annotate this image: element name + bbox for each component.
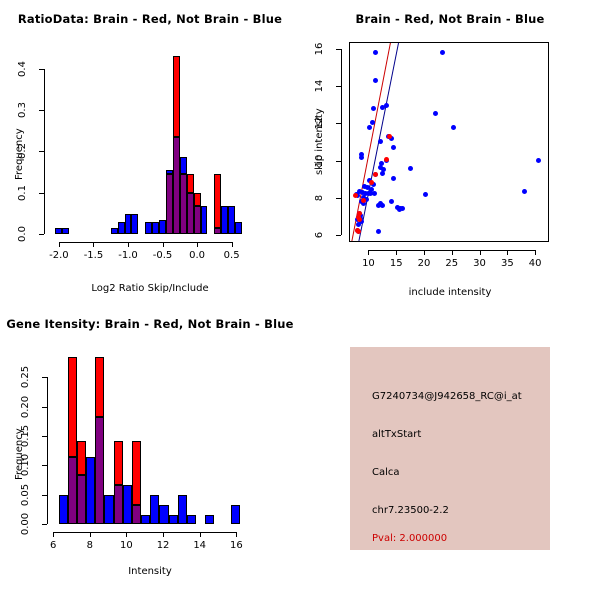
info-event-type: altTxStart (372, 429, 421, 440)
scatter-point (433, 111, 438, 116)
y-tick (336, 161, 341, 162)
x-tick (396, 250, 397, 255)
scatter-point (391, 145, 396, 150)
y-tick-label: 0.2 (16, 138, 30, 164)
scatter-point (423, 192, 428, 197)
histogram-bar (180, 174, 187, 234)
histogram-bar (228, 206, 235, 234)
scatter-point (397, 207, 402, 212)
histogram-bar (231, 505, 240, 524)
y-axis-line (341, 49, 342, 234)
scatter-point (384, 103, 389, 108)
scatter-point (376, 229, 381, 234)
y-tick-label: 0.20 (19, 394, 33, 420)
info-pval: Pval: 2.000000 (372, 533, 447, 544)
scatter-point (387, 134, 392, 139)
y-tick (336, 86, 341, 87)
histogram-bar (214, 174, 221, 228)
histogram-bar (169, 515, 178, 524)
histogram-bar (95, 357, 104, 417)
scatter-point (380, 171, 385, 176)
y-tick (42, 436, 47, 437)
y-tick (42, 465, 47, 466)
panel-scatter: Brain - Red, Not Brain - Blue skip inten… (300, 0, 600, 300)
histogram-bar (68, 457, 77, 524)
scatter-point (380, 203, 385, 208)
histogram-bar (180, 157, 187, 174)
x-tick (535, 250, 536, 255)
scatter-point (536, 158, 541, 163)
histogram-bar (145, 222, 152, 234)
histogram-bar (104, 495, 113, 524)
histogram-bar (55, 228, 62, 234)
histogram-bar (131, 214, 138, 234)
info-probe-id: G7240734@J942658_RC@i_at (372, 391, 522, 402)
x-tick (126, 532, 127, 537)
histogram-bar (123, 485, 132, 524)
histogram-bar (68, 357, 77, 457)
histogram-bar (235, 222, 242, 234)
x-tick (90, 532, 91, 537)
y-tick-label: 0.15 (19, 423, 33, 449)
histogram-bar (152, 222, 159, 234)
histogram-bar (141, 515, 150, 524)
histogram-bar (132, 441, 141, 505)
histogram-bar (194, 193, 201, 206)
histogram-bar (86, 457, 95, 524)
x-tick (128, 242, 129, 247)
histogram-bar (201, 206, 208, 234)
scatter-point (367, 125, 372, 130)
y-tick (42, 524, 47, 525)
y-tick (39, 69, 44, 70)
x-tick (236, 532, 237, 537)
histogram-bar (173, 56, 180, 137)
y-tick-label: 16 (313, 36, 327, 62)
histogram-bar (166, 174, 173, 234)
y-tick (336, 49, 341, 50)
x-axis-line (59, 242, 232, 243)
y-tick (42, 495, 47, 496)
gene-info-panel: G7240734@J942658_RC@i_at altTxStart Calc… (350, 347, 550, 550)
y-axis-line (47, 377, 48, 524)
histogram-bar (95, 417, 104, 524)
scatter-point (451, 125, 456, 130)
scatter-plot-area: 681012141610152025303540 (300, 0, 600, 300)
histogram-bar (178, 495, 187, 524)
y-tick-label: 0.25 (19, 364, 33, 390)
y-tick-label: 6 (313, 222, 327, 248)
gene-histogram-plot-area: 0.000.050.100.150.200.256810121416 (0, 300, 300, 600)
scatter-point (373, 50, 378, 55)
y-tick (42, 407, 47, 408)
y-tick (336, 235, 341, 236)
x-tick-label: 40 (510, 258, 560, 269)
y-tick-label: 0.1 (16, 180, 30, 206)
scatter-point (391, 176, 396, 181)
x-tick (368, 250, 369, 255)
histogram-bar (187, 174, 194, 193)
x-tick (480, 250, 481, 255)
histogram-bar (173, 137, 180, 234)
histogram-bar (118, 222, 125, 234)
ratio-histogram-plot-area: 0.00.10.20.30.4-2.0-1.5-1.0-0.50.00.5 (0, 0, 300, 300)
scatter-point (373, 78, 378, 83)
panel-ratio-histogram: RatioData: Brain - Red, Not Brain - Blue… (0, 0, 300, 300)
histogram-bar (132, 505, 141, 524)
histogram-bar (77, 441, 86, 476)
histogram-bar (187, 193, 194, 234)
histogram-bar (59, 495, 68, 524)
x-tick (93, 242, 94, 247)
histogram-bar (150, 495, 159, 524)
scatter-frame (349, 42, 549, 242)
histogram-bar (62, 228, 69, 234)
histogram-bar (111, 228, 118, 234)
y-tick-label: 12 (313, 110, 327, 136)
y-tick (39, 193, 44, 194)
y-tick (39, 110, 44, 111)
panel-gene-histogram: Gene Itensity: Brain - Red, Not Brain - … (0, 300, 300, 600)
scatter-point (522, 189, 527, 194)
plot-canvas: RatioData: Brain - Red, Not Brain - Blue… (0, 0, 600, 600)
scatter-point (356, 222, 361, 227)
y-axis-line (44, 69, 45, 234)
histogram-bar (205, 515, 214, 524)
histogram-bar (77, 475, 86, 524)
y-tick (39, 234, 44, 235)
histogram-bar (187, 515, 196, 524)
scatter-point (378, 139, 383, 144)
scatter-point (372, 191, 377, 196)
info-gene-symbol: Calca (372, 467, 400, 478)
x-tick (59, 242, 60, 247)
x-tick (200, 532, 201, 537)
y-tick-label: 0.4 (16, 56, 30, 82)
y-tick (42, 377, 47, 378)
histogram-bar (114, 441, 123, 485)
histogram-bar (159, 220, 166, 234)
x-axis-line (53, 532, 236, 533)
x-tick (507, 250, 508, 255)
histogram-bar (159, 505, 168, 524)
histogram-bar (114, 485, 123, 524)
y-tick-label: 0.3 (16, 97, 30, 123)
x-tick-label: 0.5 (207, 250, 257, 261)
histogram-bar (214, 228, 221, 234)
scatter-point (389, 199, 394, 204)
histogram-bar (221, 206, 228, 234)
y-tick (336, 198, 341, 199)
y-tick-label: 0.00 (19, 511, 33, 537)
y-tick-label: 10 (313, 148, 327, 174)
histogram-bar (194, 206, 201, 234)
y-tick-label: 14 (313, 73, 327, 99)
scatter-point (359, 155, 364, 160)
y-tick-label: 0.05 (19, 482, 33, 508)
x-tick (197, 242, 198, 247)
y-tick (39, 151, 44, 152)
scatter-point (440, 50, 445, 55)
x-tick (53, 532, 54, 537)
info-locus: chr7.23500-2.2 (372, 505, 449, 516)
y-tick-label: 0.0 (16, 221, 30, 247)
scatter-point (384, 157, 389, 162)
x-tick (163, 242, 164, 247)
scatter-point (373, 172, 378, 177)
x-tick-label: 16 (211, 540, 261, 551)
x-tick (452, 250, 453, 255)
histogram-bar (125, 214, 132, 234)
y-tick (336, 123, 341, 124)
x-tick (232, 242, 233, 247)
x-tick (424, 250, 425, 255)
scatter-point (408, 166, 413, 171)
scatter-point (369, 180, 374, 185)
x-tick (163, 532, 164, 537)
y-tick-label: 0.10 (19, 452, 33, 478)
y-tick-label: 8 (313, 185, 327, 211)
